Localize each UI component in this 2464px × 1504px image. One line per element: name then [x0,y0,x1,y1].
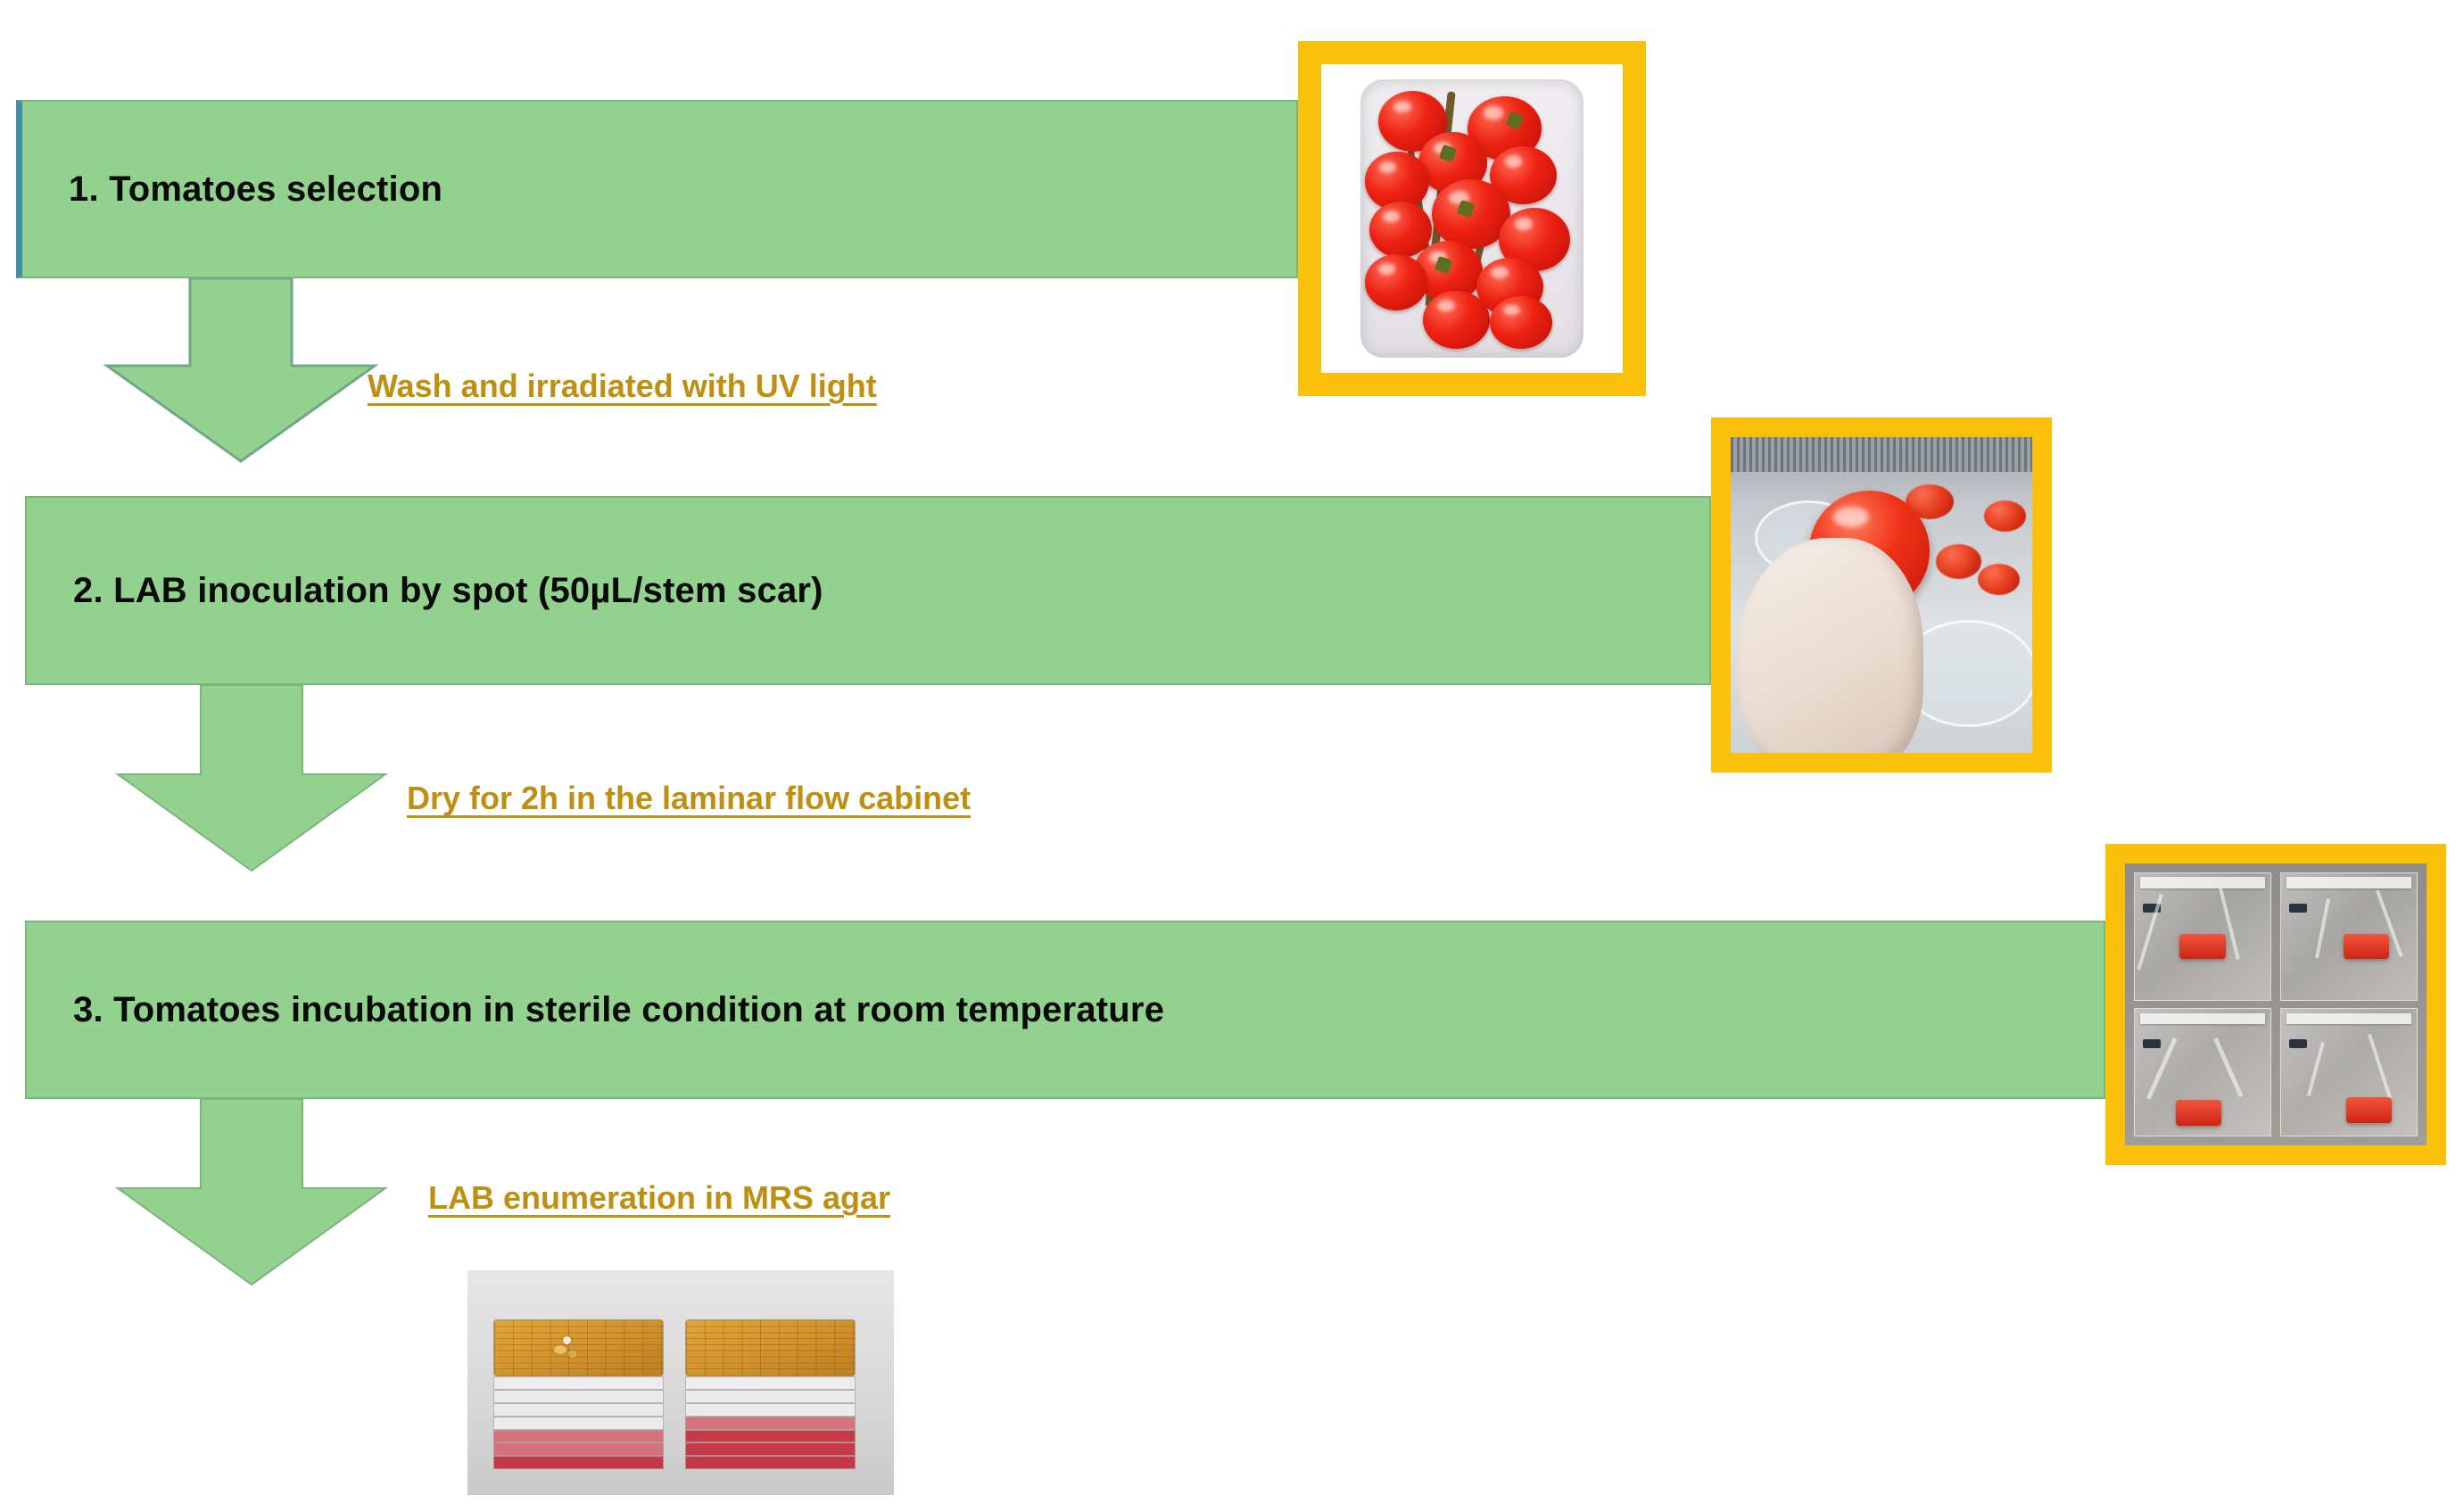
photo-mrs-agar-plates-image [467,1270,894,1495]
down-block-arrow-icon-2 [109,685,394,874]
process-box-step-3-label: 3. Tomatoes incubation in sterile condit… [27,990,1164,1030]
process-box-step-2[interactable]: 2. LAB inoculation by spot (50µL/stem sc… [25,496,1711,685]
process-box-step-1[interactable]: 1. Tomatoes selection [16,100,1298,278]
photo-gloved-hand-tomato [1711,417,2052,773]
photo-sterile-bags-image [2125,864,2427,1145]
photo-tomatoes-punnet-image [1321,64,1623,373]
down-block-arrow-icon-3 [109,1099,394,1288]
process-box-step-1-label: 1. Tomatoes selection [22,169,442,210]
photo-mrs-agar-plates [467,1270,894,1495]
process-box-step-2-label: 2. LAB inoculation by spot (50µL/stem sc… [27,571,823,611]
transition-label-3: LAB enumeration in MRS agar [428,1179,890,1217]
photo-gloved-hand-tomato-image [1731,437,2032,753]
flowchart-canvas: 1. Tomatoes selection Wash and irradiate… [0,0,2464,1504]
down-block-arrow-icon-1 [98,278,384,466]
process-box-step-3[interactable]: 3. Tomatoes incubation in sterile condit… [25,921,2105,1099]
photo-tomatoes-punnet [1298,41,1646,396]
transition-label-2: Dry for 2h in the laminar flow cabinet [407,780,971,817]
transition-label-1: Wash and irradiated with UV light [368,368,877,405]
photo-sterile-bags [2105,844,2446,1165]
